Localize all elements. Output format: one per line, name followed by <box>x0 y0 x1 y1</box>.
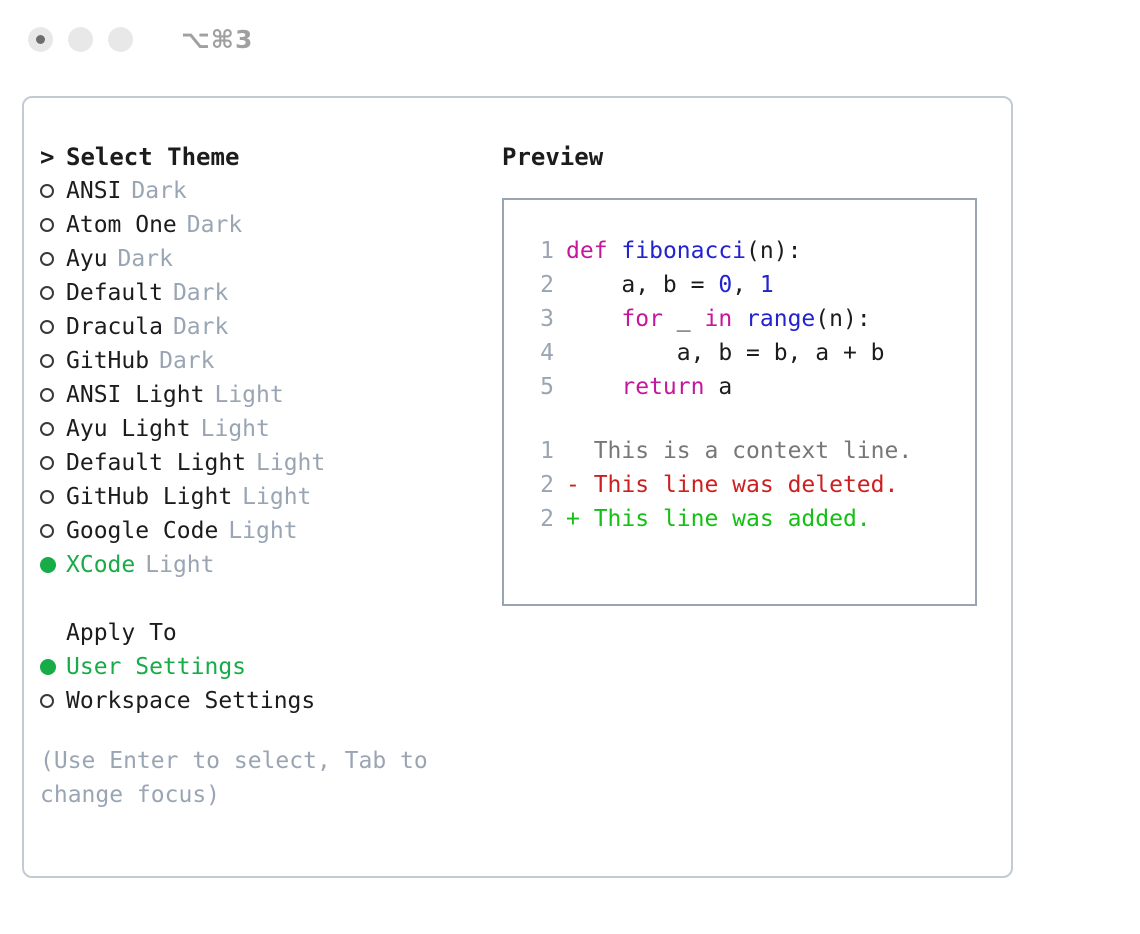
code-token: 1 <box>760 272 774 298</box>
diff-sample: 1 This is a context line.2- This line wa… <box>520 438 975 540</box>
code-line: 4 a, b = b, a + b <box>520 340 975 374</box>
theme-option-google-code[interactable]: Google CodeLight <box>40 514 490 548</box>
code-token: def <box>566 238 608 264</box>
theme-option-label: GitHub Light <box>66 484 232 510</box>
radio-glyph <box>40 354 54 368</box>
code-token: range <box>746 306 815 332</box>
code-token: 0 <box>718 272 732 298</box>
diff-sign <box>566 438 580 464</box>
radio-glyph <box>40 490 54 504</box>
code-sample: 1def fibonacci(n):2 a, b = 0, 13 for _ i… <box>520 238 975 408</box>
apply-to-header-label: Apply To <box>66 620 177 646</box>
code-token: (n): <box>815 306 870 332</box>
code-token <box>732 306 746 332</box>
theme-variant-badge: Light <box>201 416 270 442</box>
code-line-number: 1 <box>520 238 554 264</box>
diff-line-number: 2 <box>520 472 554 498</box>
code-token: for <box>621 306 663 332</box>
theme-option-atom-one[interactable]: Atom OneDark <box>40 208 490 242</box>
code-line-number: 2 <box>520 272 554 298</box>
radio-empty-icon <box>40 286 66 300</box>
radio-glyph <box>40 184 54 198</box>
code-token: , <box>732 272 760 298</box>
code-token <box>566 374 621 400</box>
list-gap <box>40 582 490 616</box>
theme-option-xcode[interactable]: XCodeLight <box>40 548 490 582</box>
code-line-text: for _ in range(n): <box>566 306 871 332</box>
code-token: in <box>704 306 732 332</box>
theme-option-github-light[interactable]: GitHub LightLight <box>40 480 490 514</box>
radio-empty-icon <box>40 456 66 470</box>
radio-glyph <box>40 694 54 708</box>
theme-option-label: Default <box>66 280 163 306</box>
window-dot-active-indicator <box>36 35 45 44</box>
radio-empty-icon <box>40 490 66 504</box>
diff-sign: - <box>566 472 580 498</box>
code-line-text: return a <box>566 374 732 400</box>
theme-variant-badge: Light <box>242 484 311 510</box>
radio-empty-icon <box>40 422 66 436</box>
theme-option-label: ANSI Light <box>66 382 204 408</box>
diff-line-text: This is a context line. <box>580 438 912 464</box>
apply-to-option-list: User SettingsWorkspace Settings <box>40 650 490 718</box>
radio-glyph <box>40 659 56 675</box>
theme-variant-badge: Light <box>214 382 283 408</box>
diff-line: 2+ This line was added. <box>520 506 975 540</box>
code-token: _ <box>663 306 705 332</box>
theme-option-label: Ayu <box>66 246 108 272</box>
radio-empty-icon <box>40 252 66 266</box>
radio-selected-icon <box>40 557 66 573</box>
code-token: a, b = b, a + b <box>566 340 885 366</box>
keyboard-hint-text: (Use Enter to select, Tab to change focu… <box>40 744 440 812</box>
theme-option-default[interactable]: DefaultDark <box>40 276 490 310</box>
code-line: 2 a, b = 0, 1 <box>520 272 975 306</box>
theme-option-label: Atom One <box>66 212 177 238</box>
code-token: fibonacci <box>621 238 746 264</box>
theme-option-label: ANSI <box>66 178 121 204</box>
preview-divider-gap <box>520 408 975 438</box>
radio-empty-icon <box>40 218 66 232</box>
code-line-text: a, b = b, a + b <box>566 340 885 366</box>
radio-glyph <box>40 252 54 266</box>
theme-variant-badge: Dark <box>173 314 228 340</box>
radio-glyph <box>40 524 54 538</box>
window-dot-minimize[interactable] <box>68 27 93 52</box>
window-dot-close[interactable] <box>28 27 53 52</box>
apply-to-option-label: Workspace Settings <box>66 688 315 714</box>
theme-variant-badge: Light <box>145 552 214 578</box>
code-token <box>608 238 622 264</box>
radio-empty-icon <box>40 354 66 368</box>
diff-line-number: 1 <box>520 438 554 464</box>
code-line-number: 5 <box>520 374 554 400</box>
theme-picker-panel: > Select Theme ANSIDarkAtom OneDarkAyuDa… <box>22 96 1013 878</box>
radio-selected-icon <box>40 659 66 675</box>
radio-empty-icon <box>40 320 66 334</box>
theme-list-column: > Select Theme ANSIDarkAtom OneDarkAyuDa… <box>40 140 490 812</box>
theme-list-header-label: Select Theme <box>66 143 239 171</box>
keyboard-shortcut-label: ⌥⌘3 <box>181 25 253 54</box>
preview-box: 1def fibonacci(n):2 a, b = 0, 13 for _ i… <box>502 198 977 606</box>
theme-option-dracula[interactable]: DraculaDark <box>40 310 490 344</box>
theme-option-label: XCode <box>66 552 135 578</box>
radio-glyph <box>40 422 54 436</box>
theme-option-ansi-light[interactable]: ANSI LightLight <box>40 378 490 412</box>
radio-empty-icon <box>40 694 66 708</box>
theme-list-header: > Select Theme <box>40 140 490 174</box>
apply-to-option-label: User Settings <box>66 654 246 680</box>
radio-glyph <box>40 218 54 232</box>
theme-variant-badge: Dark <box>173 280 228 306</box>
diff-line-text: This line was added. <box>580 506 871 532</box>
radio-glyph <box>40 388 54 402</box>
apply-to-option-user-settings[interactable]: User Settings <box>40 650 490 684</box>
code-line-number: 3 <box>520 306 554 332</box>
screenshot-frame: ⌥⌘3 > Select Theme ANSIDarkAtom OneDarkA… <box>0 0 1140 934</box>
theme-option-label: Dracula <box>66 314 163 340</box>
code-line-text: a, b = 0, 1 <box>566 272 774 298</box>
code-token <box>566 306 621 332</box>
apply-to-option-workspace-settings[interactable]: Workspace Settings <box>40 684 490 718</box>
theme-option-ayu[interactable]: AyuDark <box>40 242 490 276</box>
diff-line-text: This line was deleted. <box>580 472 899 498</box>
theme-option-label: Default Light <box>66 450 246 476</box>
code-line-number: 4 <box>520 340 554 366</box>
theme-option-ansi[interactable]: ANSIDark <box>40 174 490 208</box>
theme-option-label: Google Code <box>66 518 218 544</box>
theme-option-list: ANSIDarkAtom OneDarkAyuDarkDefaultDarkDr… <box>40 174 490 582</box>
radio-empty-icon <box>40 184 66 198</box>
radio-empty-icon <box>40 524 66 538</box>
selection-caret-icon: > <box>40 143 66 171</box>
theme-variant-badge: Dark <box>187 212 242 238</box>
theme-variant-badge: Dark <box>159 348 214 374</box>
code-token: a <box>704 374 732 400</box>
code-token: return <box>621 374 704 400</box>
theme-variant-badge: Dark <box>118 246 173 272</box>
code-token: (n): <box>746 238 801 264</box>
radio-glyph <box>40 456 54 470</box>
diff-line: 2- This line was deleted. <box>520 472 975 506</box>
theme-option-label: GitHub <box>66 348 149 374</box>
radio-glyph <box>40 320 54 334</box>
code-line: 5 return a <box>520 374 975 408</box>
theme-option-label: Ayu Light <box>66 416 191 442</box>
diff-sign: + <box>566 506 580 532</box>
radio-empty-icon <box>40 388 66 402</box>
code-line: 3 for _ in range(n): <box>520 306 975 340</box>
code-token: a, b = <box>566 272 718 298</box>
theme-variant-badge: Light <box>256 450 325 476</box>
code-line: 1def fibonacci(n): <box>520 238 975 272</box>
radio-glyph <box>40 557 56 573</box>
theme-option-github[interactable]: GitHubDark <box>40 344 490 378</box>
preview-title: Preview <box>502 140 1002 174</box>
theme-option-ayu-light[interactable]: Ayu LightLight <box>40 412 490 446</box>
apply-to-header: Apply To <box>40 616 490 650</box>
code-line-text: def fibonacci(n): <box>566 238 801 264</box>
theme-variant-badge: Dark <box>131 178 186 204</box>
preview-column: Preview 1def fibonacci(n):2 a, b = 0, 13… <box>502 140 1002 606</box>
radio-glyph <box>40 286 54 300</box>
diff-line: 1 This is a context line. <box>520 438 975 472</box>
diff-line-number: 2 <box>520 506 554 532</box>
theme-variant-badge: Light <box>228 518 297 544</box>
theme-option-default-light[interactable]: Default LightLight <box>40 446 490 480</box>
window-dot-maximize[interactable] <box>108 27 133 52</box>
window-titlebar: ⌥⌘3 <box>0 0 1140 78</box>
